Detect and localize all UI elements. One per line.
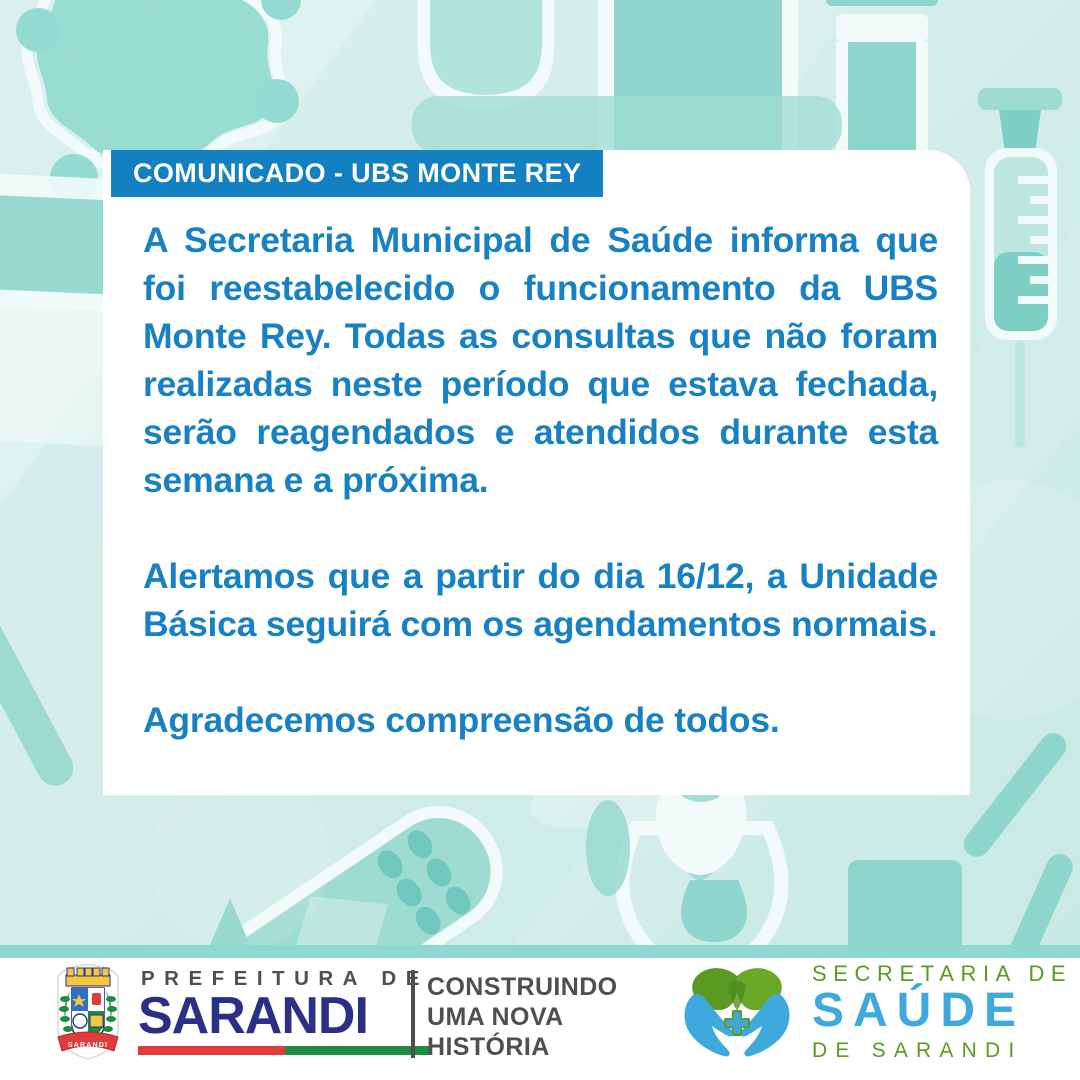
flag-accent-bar <box>138 1046 429 1055</box>
separator-band <box>0 945 1080 958</box>
flag-transition-segment <box>272 1046 298 1055</box>
saude-wordmark: SECRETARIA DE SAÚDE DE SARANDI <box>812 963 1072 1061</box>
slogan-line-1: CONSTRUINDO <box>427 972 618 1002</box>
saude-line-main: SAÚDE <box>812 987 1072 1036</box>
secretaria-saude-logo: SECRETARIA DE SAÚDE DE SARANDI <box>678 962 1072 1062</box>
sarandi-coat-of-arms-icon: SARANDI <box>52 963 124 1061</box>
saude-line-bottom: DE SARANDI <box>812 1040 1072 1061</box>
crest-ribbon-text: SARANDI <box>68 1042 108 1049</box>
paragraph-2: Alertamos que a partir do dia 16/12, a U… <box>143 552 938 648</box>
prefeitura-logo: SARANDI PREFEITURA DE SARANDI <box>52 963 429 1061</box>
beaker-icon <box>418 0 554 110</box>
flag-red-segment <box>138 1046 272 1055</box>
footer-divider <box>411 970 415 1058</box>
banner-header: COMUNICADO - UBS MONTE REY <box>111 150 603 197</box>
banner-title: COMUNICADO - UBS MONTE REY <box>133 160 581 187</box>
paragraph-3: Agradecemos compreensão de todos. <box>143 696 938 744</box>
paragraph-spacer <box>143 648 938 696</box>
slogan-line-2: UMA NOVA <box>427 1002 618 1032</box>
flag-green-segment <box>298 1046 428 1055</box>
poster-canvas: COMUNICADO - UBS MONTE REY A Secretaria … <box>0 0 1080 1080</box>
paragraph-spacer <box>143 504 938 552</box>
slogan-line-3: HISTÓRIA <box>427 1032 618 1062</box>
prefeitura-wordmark: PREFEITURA DE SARANDI <box>138 969 429 1055</box>
prefeitura-line-top: PREFEITURA DE <box>141 969 429 990</box>
device-icon <box>412 96 842 154</box>
announcement-body: A Secretaria Municipal de Saúde informa … <box>143 216 938 744</box>
paragraph-1: A Secretaria Municipal de Saúde informa … <box>143 216 938 504</box>
slogan-block: CONSTRUINDO UMA NOVA HISTÓRIA <box>427 972 618 1062</box>
saude-line-top: SECRETARIA DE <box>812 963 1072 985</box>
prefeitura-line-main: SARANDI <box>138 992 429 1042</box>
hands-heart-leaf-icon <box>678 962 796 1062</box>
